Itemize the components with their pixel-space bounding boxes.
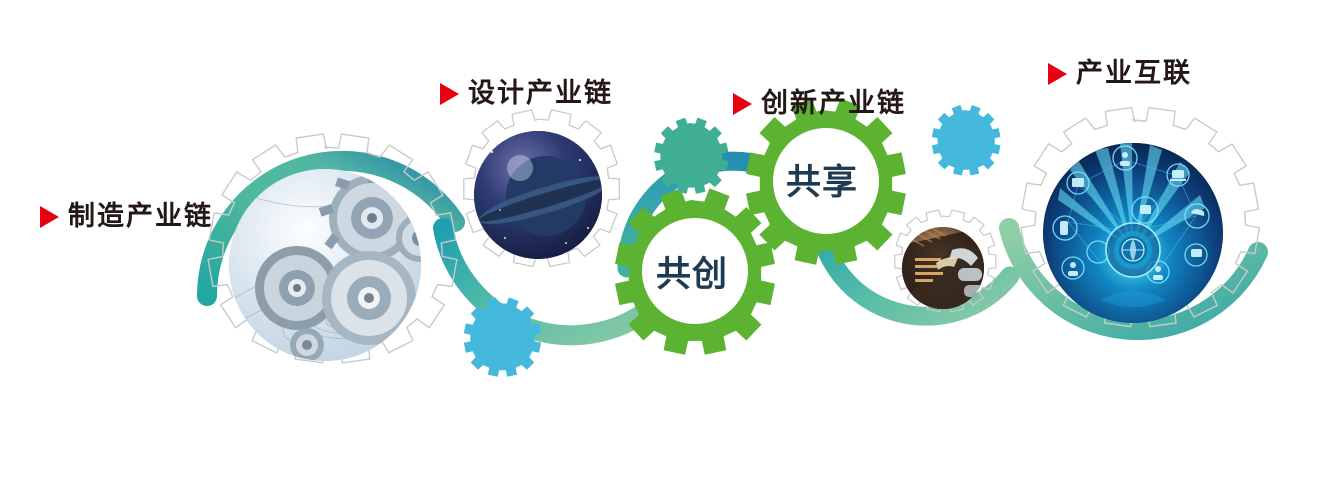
red-triangle-icon [440,83,459,105]
metal-gears-photo [229,169,444,362]
iot-network-photo [1043,143,1223,323]
small-gear-teal-top [654,118,728,194]
red-triangle-icon [733,93,752,115]
small-gear-blue-top [932,105,1001,176]
label-industrial-internet-text: 产业互联 [1076,60,1192,87]
small-gear-blue-left [464,297,541,376]
robot-arm-circuit-photo [902,227,984,309]
label-industrial-internet: 产业互联 [1048,60,1192,87]
green-gear-label-cochuang: 共创 [632,258,752,293]
label-manufacture-chain: 制造产业链 [40,203,213,230]
label-design-chain-text: 设计产业链 [468,80,613,107]
green-gear-label-gongxiang: 共享 [762,166,882,201]
label-innovation-chain: 创新产业链 [733,90,906,117]
label-manufacture-chain-text: 制造产业链 [68,203,213,230]
red-triangle-icon [40,206,59,228]
red-triangle-icon [1048,63,1067,85]
infographic-canvas: 制造产业链 设计产业链 创新产业链 产业互联 共创 共享 [0,0,1336,481]
label-innovation-chain-text: 创新产业链 [761,90,906,117]
label-design-chain: 设计产业链 [440,80,613,107]
design-gear [464,110,620,267]
